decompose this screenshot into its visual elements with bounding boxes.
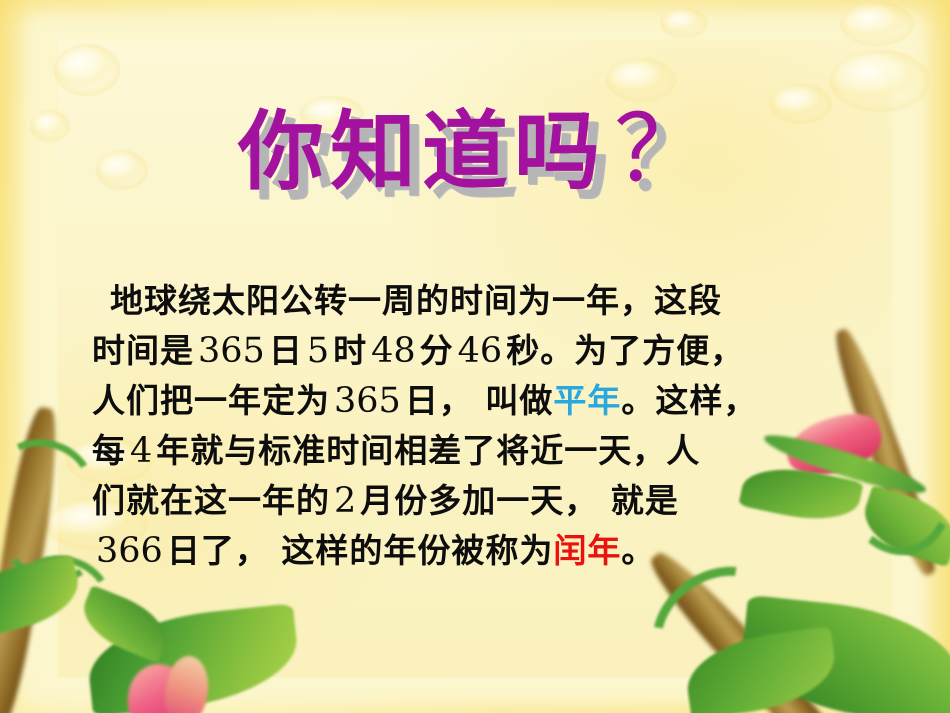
body-line-3: 人们把一年定为365日， 叫做平年。这样，: [92, 376, 882, 426]
bubble-decoration: [30, 110, 70, 142]
line4-number-4: 4: [126, 431, 156, 471]
line2-part-a: 时间是: [92, 331, 194, 370]
line4-part-a: 每: [92, 431, 126, 470]
line6-part-b: 这样的年份被称为: [281, 531, 553, 570]
line6-part-a: 日了，: [167, 531, 269, 570]
body-line-1: 地球绕太阳公转一周的时间为一年，这段: [92, 276, 882, 326]
line2-number-48: 48: [367, 331, 420, 371]
line4-part-b: 年就与标准时间相差了将近一天，人: [156, 431, 700, 470]
line6-number-366: 366: [92, 531, 167, 571]
line2-part-b: 日: [269, 331, 303, 370]
body-paragraph: 地球绕太阳公转一周的时间为一年，这段 时间是365日5时48分46秒。为了方便，…: [92, 276, 882, 576]
body-line-5: 们就在这一年的2月份多加一天， 就是: [92, 476, 882, 526]
line2-number-5: 5: [303, 331, 333, 371]
line2-part-d: 分: [420, 331, 454, 370]
line6-part-c: 。: [621, 531, 655, 570]
line1-text: 地球绕太阳公转一周的时间为一年，这段: [110, 281, 722, 320]
highlight-pingnian: 平年: [553, 381, 621, 420]
line3-number-365: 365: [330, 381, 405, 421]
bubble-decoration: [96, 150, 148, 190]
bubble-decoration: [770, 84, 832, 124]
line2-number-365: 365: [194, 331, 269, 371]
line3-part-b: 日，: [405, 381, 473, 420]
bubble-decoration: [660, 8, 708, 38]
line3-part-a: 人们把一年定为: [92, 381, 330, 420]
bubble-decoration: [300, 96, 364, 132]
line2-number-46: 46: [454, 331, 507, 371]
body-line-4: 每4年就与标准时间相差了将近一天，人: [92, 426, 882, 476]
bubble-decoration: [840, 2, 914, 46]
line5-number-2: 2: [330, 481, 360, 521]
line5-part-c: 就是: [611, 481, 679, 520]
line3-part-c: 叫做: [485, 381, 553, 420]
slide-canvas: 你知道吗？ 地球绕太阳公转一周的时间为一年，这段 时间是365日5时48分46秒…: [0, 0, 950, 713]
bubble-decoration: [54, 44, 120, 96]
line5-part-b: 月份多加一天，: [360, 481, 598, 520]
bubble-decoration: [606, 58, 676, 102]
bubble-decoration: [830, 50, 930, 112]
body-line-6: 366日了， 这样的年份被称为闰年。: [92, 526, 882, 576]
highlight-runnian: 闰年: [553, 531, 621, 570]
body-line-2: 时间是365日5时48分46秒。为了方便，: [92, 326, 882, 376]
line3-part-d: 。这样，: [621, 381, 757, 420]
line2-part-c: 时: [333, 331, 367, 370]
line2-part-e: 秒。为了方便，: [506, 331, 744, 370]
line5-part-a: 们就在这一年的: [92, 481, 330, 520]
